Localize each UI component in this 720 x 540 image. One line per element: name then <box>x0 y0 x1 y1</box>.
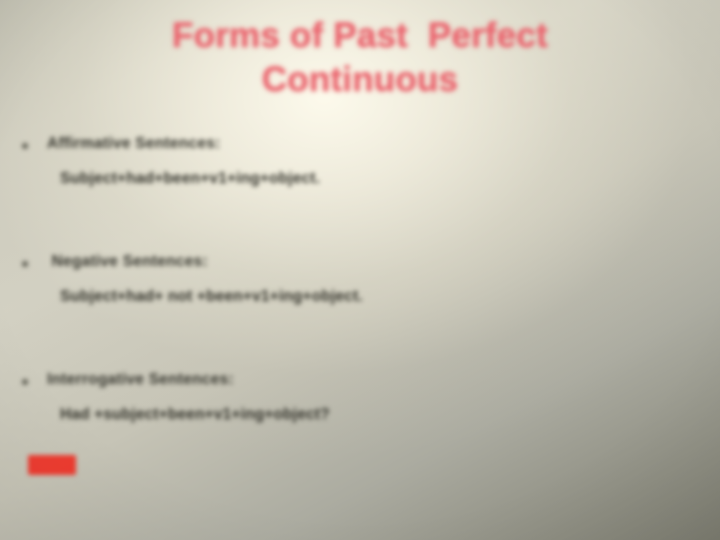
slide-title: Forms of Past Perfect Continuous <box>0 14 720 103</box>
formula-affirmative: Subject+had+been+v1+ing+object. <box>60 169 690 188</box>
bullet-heading-negative: Negative Sentences: <box>47 252 208 271</box>
slide-content: Forms of Past Perfect Continuous Affirma… <box>0 0 720 540</box>
bullet-section-affirmative: Affirmative Sentences: Subject+had+been+… <box>22 134 690 189</box>
bullet-heading-row: Interrogative Sentences: <box>22 370 690 389</box>
bullet-heading-interrogative: Interrogative Sentences: <box>47 370 234 389</box>
bullet-heading-row: Affirmative Sentences: <box>22 134 690 153</box>
bullet-section-interrogative: Interrogative Sentences: Had +subject+be… <box>22 370 690 425</box>
bullet-point-icon <box>22 261 28 267</box>
formula-negative: Subject+had+ not +been+v1+ing+object. <box>60 287 690 306</box>
formula-interrogative: Had +subject+been+v1+ing+object? <box>60 405 690 424</box>
bullet-point-icon <box>22 143 28 149</box>
presentation-slide: Forms of Past Perfect Continuous Affirma… <box>0 0 720 540</box>
red-highlight-mark <box>28 455 76 475</box>
bullet-section-negative: Negative Sentences: Subject+had+ not +be… <box>22 252 690 307</box>
bullet-point-icon <box>22 379 28 385</box>
bullet-heading-row: Negative Sentences: <box>22 252 690 271</box>
bullet-heading-affirmative: Affirmative Sentences: <box>47 134 220 153</box>
